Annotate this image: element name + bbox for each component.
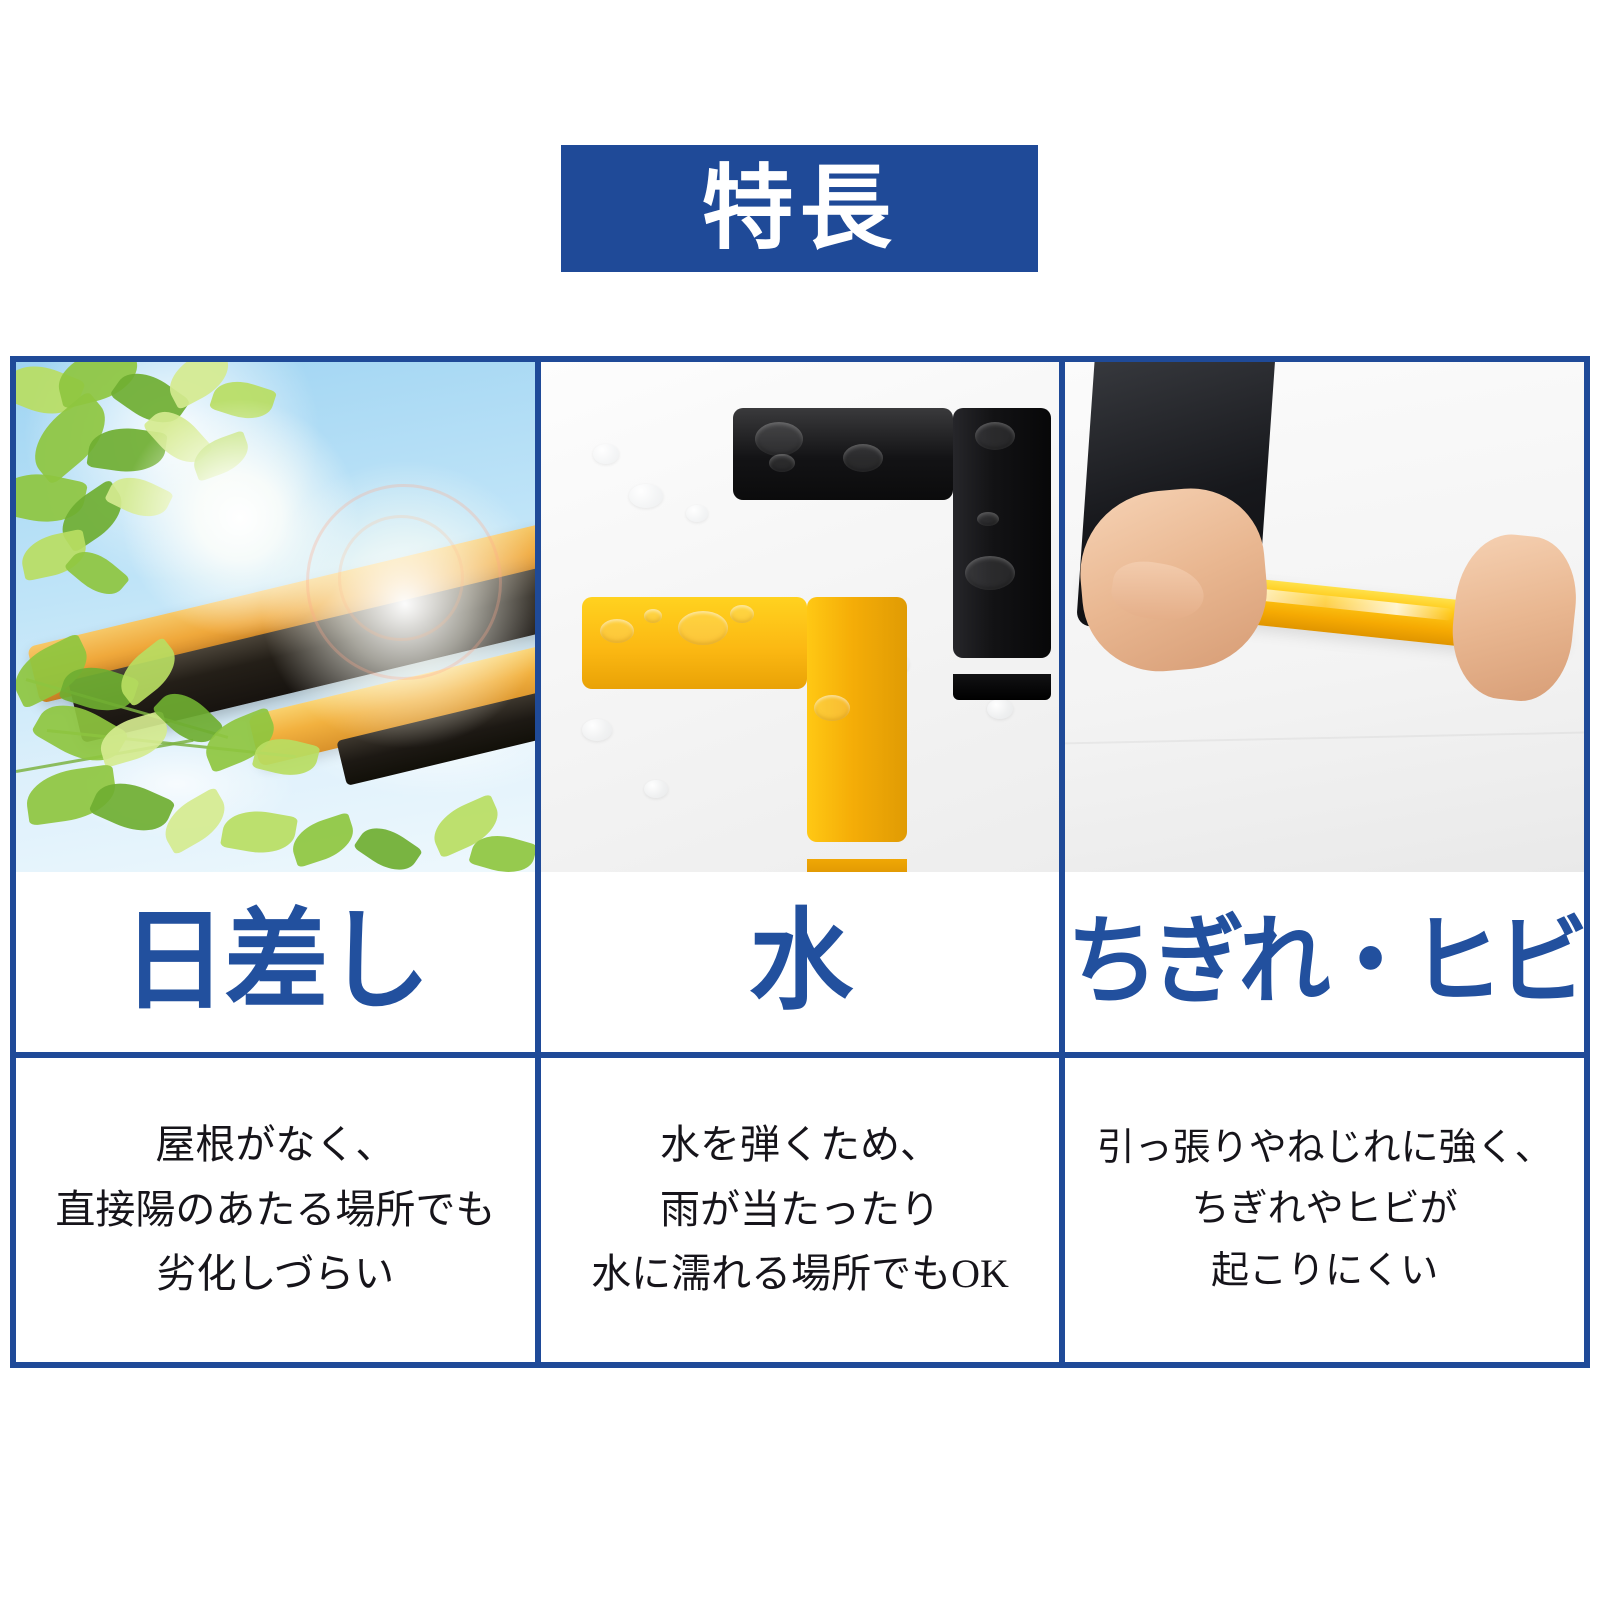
cap-lip [953, 674, 1051, 700]
feature-body-cell-1: 屋根がなく、 直接陽のあたる場所でも 劣化しづらい [16, 1058, 535, 1362]
water-droplet [686, 505, 708, 522]
right-hand [1445, 530, 1582, 707]
page-title: 特長 [701, 163, 897, 255]
feature-body-cell-3: 引っ張りやねじれに強く、 ちぎれやヒビが 起こりにくい [1065, 1058, 1584, 1362]
feature-heading-cell-1: 日差し [16, 872, 535, 1058]
cap-dimple [965, 556, 1015, 590]
leaf [353, 817, 423, 872]
cap-dimple [814, 695, 850, 721]
feature-title-banner: 特長 [561, 145, 1038, 272]
feature-column-water: 水 水を弾くため、 雨が当たったり 水に濡れる場所でもOK [535, 362, 1060, 1362]
cap-dimple [600, 619, 634, 643]
feature-column-tear-crack: ちぎれ・ヒビ 引っ張りやねじれに強く、 ちぎれやヒビが 起こりにくい [1059, 362, 1584, 1362]
feature-heading-water: 水 [749, 907, 851, 1017]
cap-dimple [769, 454, 795, 472]
cap-dimple [644, 609, 662, 623]
photo-sunlight-corner-guards [16, 362, 535, 872]
feature-column-sunlight: 日差し 屋根がなく、 直接陽のあたる場所でも 劣化しづらい [16, 362, 535, 1362]
description-line: ちぎれやヒビが [1097, 1179, 1553, 1241]
lens-flare-ring [338, 515, 464, 641]
features-table: 日差し 屋根がなく、 直接陽のあたる場所でも 劣化しづらい [10, 356, 1590, 1368]
cap-lip [807, 859, 907, 872]
description-line: 劣化しづらい [55, 1242, 495, 1307]
feature-heading-tear-crack: ちぎれ・ヒビ [1067, 913, 1583, 1011]
feature-heading-cell-2: 水 [541, 872, 1060, 1058]
photo-hands-stretching-profile [1065, 362, 1584, 872]
description-line: 引っ張りやねじれに強く、 [1097, 1118, 1553, 1180]
description-line: 起こりにくい [1097, 1241, 1553, 1303]
description-line: 水を弾くため、 [591, 1113, 1009, 1178]
water-droplet [629, 484, 663, 508]
feature-heading-sunlight: 日差し [122, 907, 428, 1017]
description-line: 直接陽のあたる場所でも [55, 1178, 495, 1243]
feature-body-cell-2: 水を弾くため、 雨が当たったり 水に濡れる場所でもOK [541, 1058, 1060, 1362]
cap-dimple [755, 422, 803, 456]
feature-heading-cell-3: ちぎれ・ヒビ [1065, 872, 1584, 1058]
thumb [1108, 556, 1208, 626]
cap-dimple [975, 422, 1015, 450]
cap-dimple [843, 444, 883, 472]
backdrop-seam [1065, 732, 1584, 745]
water-droplet [593, 444, 619, 464]
photo-water-corner-caps [541, 362, 1060, 872]
cap-dimple [730, 605, 754, 623]
cap-dimple [977, 512, 999, 526]
feature-description-tear-crack: 引っ張りやねじれに強く、 ちぎれやヒビが 起こりにくい [1097, 1118, 1553, 1303]
feature-description-sunlight: 屋根がなく、 直接陽のあたる場所でも 劣化しづらい [55, 1113, 495, 1307]
description-line: 水に濡れる場所でもOK [591, 1242, 1009, 1307]
description-line: 雨が当たったり [591, 1178, 1009, 1243]
cap-dimple [678, 611, 728, 645]
description-line: 屋根がなく、 [55, 1113, 495, 1178]
feature-description-water: 水を弾くため、 雨が当たったり 水に濡れる場所でもOK [591, 1113, 1009, 1307]
water-droplet [987, 699, 1013, 719]
yellow-corner-cap [582, 597, 907, 869]
